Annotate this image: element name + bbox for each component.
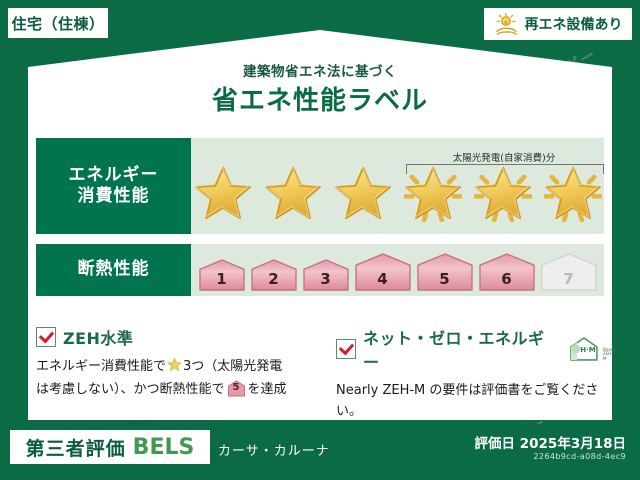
insulation-level-filled: 3: [302, 258, 350, 292]
insulation-level-number: 2: [250, 270, 298, 288]
insulation-level-inline-badge: 5: [227, 380, 246, 397]
energy-stars-field: 太陽光発電(自家消費)分: [191, 138, 604, 234]
criteria-zeh-body: エネルギー消費性能で3つ（太陽光発電は考慮しない）、かつ断熱性能で5を達成: [36, 356, 326, 401]
building-name: カーサ・カルーナ: [218, 440, 330, 459]
zehm-logo-caption: Nearly ZEH-M: [603, 348, 616, 362]
criteria-netzero-block: ネット・ゼロ・エネルギー H·M Nearly ZEH-M Nearly ZEH…: [336, 325, 616, 423]
energy-performance-label: エネルギー エネルギー エネルギー エネルギー エネルギー 住宅（住棟） e 再…: [0, 0, 640, 480]
criteria-zeh-block: ZEH水準 エネルギー消費性能で3つ（太陽光発電は考慮しない）、かつ断熱性能で5…: [36, 325, 326, 401]
svg-text:e: e: [503, 19, 507, 26]
star-icon-filled: [264, 164, 322, 222]
sun-horizon-icon: e: [494, 12, 520, 36]
star-icon-solar: [474, 164, 532, 222]
criteria-zeh-title: ZEH水準: [63, 325, 133, 349]
criteria-zeh-header: ZEH水準: [36, 325, 326, 349]
star-icon-filled: [194, 164, 252, 222]
star-icon-solar: [404, 164, 462, 222]
bels-badge-prefix: 第三者評価: [26, 434, 126, 461]
star-rating: [191, 138, 604, 234]
insulation-level-filled: 6: [478, 252, 536, 292]
star-icon-solar: [544, 164, 602, 222]
insulation-level-empty: 7: [540, 252, 598, 292]
zeh-body-part-a: エネルギー消費性能で: [36, 359, 166, 374]
building-type-chip: 住宅（住棟）: [8, 8, 108, 38]
criteria-netzero-header: ネット・ゼロ・エネルギー H·M Nearly ZEH-M: [336, 325, 616, 373]
criteria-netzero-body: Nearly ZEH-M の要件は評価書をご覧ください。: [336, 380, 616, 423]
insulation-level-number: 4: [354, 270, 412, 288]
insulation-level-number: 1: [198, 270, 246, 288]
insulation-level-scale: 1 2 3 4 5 6: [191, 244, 604, 296]
netzero-checkbox-checked-icon: [336, 339, 356, 359]
criteria-netzero-title: ネット・ゼロ・エネルギー: [363, 325, 555, 373]
insulation-level-number: 5: [416, 270, 474, 288]
insulation-level-filled: 2: [250, 258, 298, 292]
insulation-tag-label: 断熱性能: [78, 259, 150, 280]
svg-text:H·M: H·M: [580, 346, 595, 354]
label-subtitle: 建築物省エネ法に基づく: [0, 60, 640, 80]
insulation-performance-tag: 断熱性能: [36, 244, 191, 296]
zeh-body-part-d: を達成: [248, 382, 287, 397]
insulation-level-filled: 5: [416, 252, 474, 292]
building-type-label: 住宅（住棟）: [11, 13, 104, 34]
evaluation-id: 2264b9cd-a08d-4ec9: [533, 452, 626, 461]
inline-level-number: 5: [227, 380, 246, 397]
star-icon-filled: [334, 164, 392, 222]
insulation-level-filled: 4: [354, 252, 412, 292]
energy-tag-line1: エネルギー: [69, 165, 159, 186]
insulation-level-number: 3: [302, 270, 350, 288]
renewable-equipment-label: 再エネ設備あり: [525, 14, 623, 34]
zeh-body-part-c: は考慮しない）、かつ断熱性能で: [36, 382, 225, 397]
zehm-logo: H·M Nearly ZEH-M: [567, 336, 616, 362]
energy-performance-row: エネルギー 消費性能 太陽光発電(自家消費)分: [36, 138, 604, 234]
zeh-body-part-b: 3つ（太陽光発電: [183, 359, 282, 374]
zeh-checkbox-checked-icon: [36, 327, 56, 347]
insulation-levels-field: 1 2 3 4 5 6: [191, 244, 604, 296]
star-icon: [167, 357, 182, 379]
energy-tag-line2: 消費性能: [78, 186, 150, 207]
evaluation-date: 評価日 2025年3月18日: [475, 432, 626, 452]
insulation-level-filled: 1: [198, 258, 246, 292]
insulation-level-number: 7: [540, 270, 598, 288]
zehm-house-icon: H·M: [567, 336, 601, 362]
energy-performance-tag: エネルギー 消費性能: [36, 138, 191, 234]
renewable-equipment-chip: e 再エネ設備あり: [484, 8, 632, 40]
bels-badge-name: BELS: [133, 435, 195, 460]
bels-third-party-badge: 第三者評価 BELS: [10, 430, 210, 464]
insulation-performance-row: 断熱性能 1 2 3 4: [36, 244, 604, 296]
page-title: 省エネ性能ラベル: [0, 80, 640, 117]
insulation-level-number: 6: [478, 270, 536, 288]
